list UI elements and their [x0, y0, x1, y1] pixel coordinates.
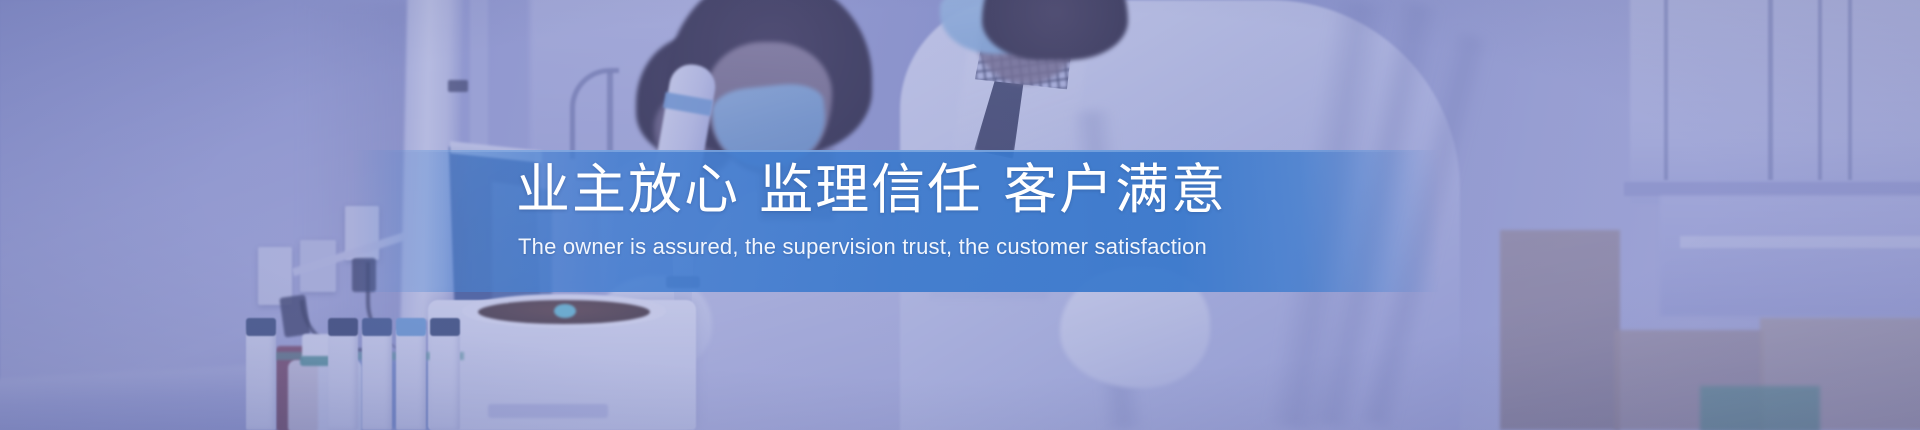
- sample-vial: [362, 328, 392, 430]
- wall-cabinet: [1630, 0, 1920, 204]
- cabinet-shelf: [1624, 182, 1920, 196]
- green-supply-box: [1700, 386, 1820, 430]
- sample-vial-cap: [328, 318, 358, 336]
- sample-vial-cap: [430, 318, 460, 336]
- cabinet-divider: [1818, 0, 1822, 180]
- sample-vial-cap: [362, 318, 392, 336]
- sample-vial: [430, 328, 460, 430]
- cabinet-divider: [1768, 0, 1773, 180]
- sample-vial: [246, 328, 276, 430]
- sample-vial-cap: [246, 318, 276, 336]
- cabinet-lower: [1660, 196, 1920, 316]
- sample-vial: [396, 328, 426, 430]
- sample-vial: [328, 328, 358, 430]
- centrifuge-slot: [488, 404, 608, 418]
- post-hardware: [448, 80, 468, 92]
- cabinet-lower-edge: [1680, 236, 1920, 248]
- pipette-ring: [666, 276, 700, 288]
- lab-faucet-stem: [607, 72, 613, 152]
- gloved-hand: [1060, 268, 1210, 388]
- slogan-subheadline: The owner is assured, the supervision tr…: [516, 228, 1416, 262]
- sample-vial-cap: [396, 318, 426, 336]
- slogan-headline-part2: 客户满意: [1003, 158, 1227, 221]
- cardboard-box: [1500, 230, 1620, 430]
- hero-banner: 业主放心 监理信任客户满意 The owner is assured, the …: [0, 0, 1920, 430]
- slogan-block: 业主放心 监理信任客户满意 The owner is assured, the …: [516, 152, 1416, 262]
- cabinet-divider: [1848, 0, 1852, 180]
- slogan-headline-part1: 业主放心 监理信任: [516, 158, 983, 221]
- doctor-hair: [982, 0, 1128, 60]
- centrifuge-sample: [554, 304, 576, 318]
- cabinet-divider: [1664, 0, 1668, 180]
- slogan-headline: 业主放心 监理信任客户满意: [516, 152, 1416, 228]
